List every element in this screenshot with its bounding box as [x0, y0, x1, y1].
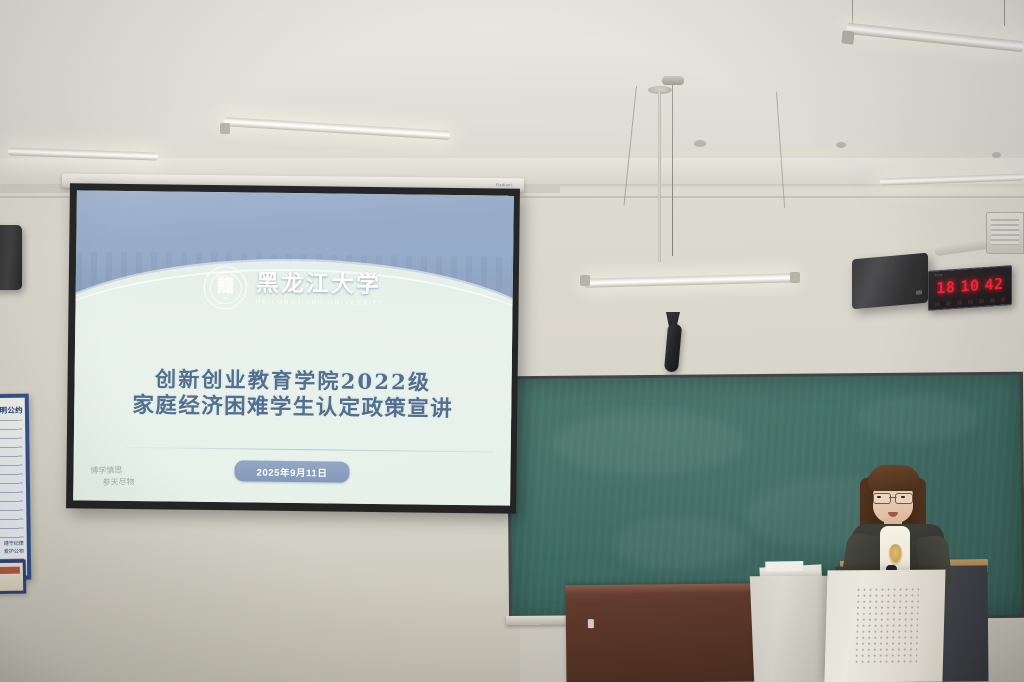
seal-year: 1941 — [205, 296, 246, 301]
ceiling-fixture-mark — [836, 142, 846, 148]
led-digital-clock: Time 18 10 42 — [928, 265, 1012, 311]
lower-left-wall — [0, 520, 520, 682]
poster-body-text — [0, 420, 24, 547]
university-name-block: 黑龙江大学 HEILONGJIANG UNIVERSITY — [256, 271, 385, 307]
podium-perforated-panel — [855, 588, 919, 664]
university-name-en: HEILONGJIANG UNIVERSITY — [256, 298, 385, 307]
slide-title-line-2: 家庭经济困难学生认定政策宣讲 — [74, 392, 511, 426]
clock-brand-label: Time — [934, 273, 943, 278]
projector-mount-pole — [658, 92, 661, 262]
wall-poster-convention: 文明公约 遵守纪律 爱护公物 — [0, 394, 31, 581]
presenter-hair-front — [868, 465, 920, 491]
wall-speaker-left — [0, 225, 22, 290]
clock-seconds: 42 — [985, 277, 1004, 293]
wall-speaker-right — [852, 253, 928, 310]
ceiling-fixture-mark — [694, 140, 706, 147]
clock-display: 18 10 42 — [929, 274, 1011, 299]
tube-light-endcap — [790, 272, 800, 283]
chalk-smudge — [613, 516, 746, 570]
slide-date-badge: 2025年9月11日 — [234, 460, 349, 482]
university-name-cn: 黑龙江大学 — [256, 271, 381, 297]
tube-light-endcap — [841, 30, 854, 44]
calligraphy-line-1: 博学慎思 — [91, 466, 123, 476]
chalk-smudge — [551, 411, 745, 475]
clock-hours: 18 — [936, 280, 955, 296]
ceiling-fixture-mark — [992, 152, 1001, 158]
classroom-photo-scene: Time 18 10 42 文明公约 遵守纪律 爱护公物 Radiant — [0, 0, 1024, 682]
clock-label-strip — [935, 298, 1005, 307]
chalk-smudge — [857, 394, 980, 443]
air-conditioner-vent — [986, 212, 1024, 254]
glasses-lens-left — [873, 493, 891, 504]
calligraphy-line-2: 参天尽物 — [103, 476, 135, 488]
light-hanger-wire — [1004, 0, 1005, 26]
presentation-slide: HEILONGJIANG UNIVERSITY 龍 1941 黑龙江大学 HEI… — [73, 190, 514, 505]
mic-suspension-wire — [672, 84, 673, 256]
poster-subtext-line2: 爱护公物 — [0, 548, 24, 556]
podium-side-panel — [750, 576, 834, 682]
speaking-podium — [824, 570, 945, 682]
seal-glyph: 龍 — [217, 278, 234, 295]
wall-poster-secondary — [0, 560, 26, 595]
clock-minutes: 10 — [960, 278, 979, 294]
screen-brand-label: Radiant — [496, 182, 512, 187]
slide-title-block: 创新创业教育学院2022级 家庭经济困难学生认定政策宣讲 — [74, 364, 512, 425]
projection-screen-frame: HEILONGJIANG UNIVERSITY 龍 1941 黑龙江大学 HEI… — [66, 183, 520, 513]
slide-calligraphy: 博学慎思 参天尽物 — [91, 465, 136, 489]
university-logo: HEILONGJIANG UNIVERSITY 龍 1941 黑龙江大学 HEI… — [75, 265, 512, 313]
poster-title: 文明公约 — [0, 405, 23, 417]
shirt-graphic-print — [888, 544, 903, 566]
university-seal-icon: HEILONGJIANG UNIVERSITY 龍 1941 — [204, 266, 248, 310]
tube-light-endcap — [580, 275, 590, 286]
desk-drawer-knob — [588, 619, 594, 628]
glasses-lens-right — [895, 493, 913, 504]
poster-subtext-line1: 遵守纪律 — [0, 541, 24, 549]
poster-subtext: 遵守纪律 爱护公物 — [0, 541, 24, 557]
tube-light-endcap — [220, 123, 230, 134]
